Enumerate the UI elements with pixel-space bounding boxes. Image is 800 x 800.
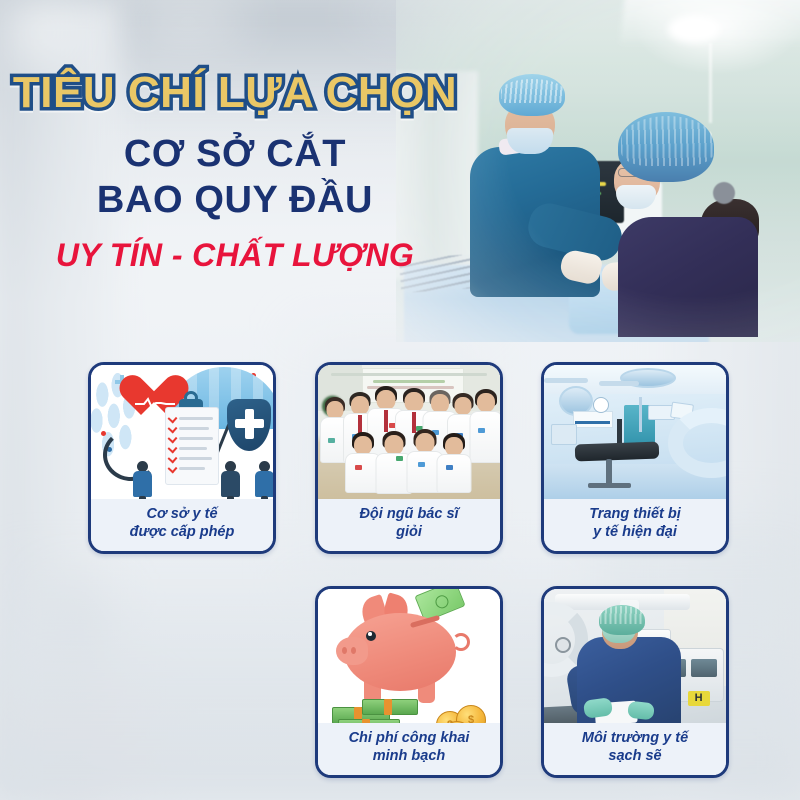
card-label-line-2: sạch sẽ	[548, 748, 722, 766]
operating-room-photo	[544, 365, 726, 499]
headset-device	[713, 182, 735, 204]
doctor-glove	[627, 700, 655, 720]
gold-coin: $	[456, 705, 486, 723]
poster-canvas: TIÊU CHÍ LỰA CHỌN CƠ SỞ CẮT BAO QUY ĐẦU …	[0, 0, 800, 800]
card-media-modern-equipment	[544, 365, 726, 499]
clipboard-line	[179, 427, 209, 430]
card-licensed-facility[interactable]: Cơ sở y tế được cấp phép	[88, 362, 276, 554]
piggy-nostril	[342, 647, 347, 654]
card-label-transparent-cost: Chi phí công khai minh bạch	[318, 723, 500, 775]
card-modern-equipment[interactable]: Trang thiết bị y tế hiện đại	[541, 362, 729, 554]
table-base	[588, 483, 632, 488]
ecg-line-icon	[135, 397, 175, 409]
clipboard-line	[179, 467, 205, 470]
equipment-cart	[551, 424, 576, 445]
dot-red	[101, 431, 106, 436]
piggy-tail	[452, 633, 470, 651]
cash-band	[362, 719, 370, 723]
clipboard-line	[179, 457, 212, 460]
headline-line-2: CƠ SỞ CẮT	[0, 131, 470, 177]
card-skilled-doctors[interactable]: Đội ngũ bác sĩ giỏi	[315, 362, 503, 554]
card-label-line-2: y tế hiện đại	[548, 524, 722, 542]
card-media-clean-environment: H	[544, 589, 726, 723]
card-media-skilled-doctors	[318, 365, 500, 499]
card-transparent-cost[interactable]: $ $ $ Chi phí công khai minh bạch	[315, 586, 503, 778]
card-label-line-1: Môi trường y tế	[548, 730, 722, 748]
nurse-top	[618, 217, 758, 337]
banner-line	[373, 380, 446, 383]
doctors-team-photo	[318, 365, 500, 499]
operating-table	[575, 441, 659, 461]
ceiling-lamp	[668, 15, 720, 43]
clean-medical-room-photo: H	[544, 589, 726, 723]
wall-panel	[573, 411, 613, 428]
card-label-line-2: được cấp phép	[95, 524, 269, 542]
clipboard-line	[179, 447, 207, 450]
card-label-line-1: Cơ sở y tế	[95, 506, 269, 524]
card-label-line-1: Chi phí công khai	[322, 730, 496, 748]
card-clean-environment[interactable]: H Môi trường y tế sạch sẽ	[541, 586, 729, 778]
lamp-arm	[599, 381, 639, 386]
medical-license-illustration	[91, 365, 273, 499]
clipboard-line	[179, 437, 213, 440]
card-media-licensed-facility	[91, 365, 273, 499]
nurse-figure	[438, 433, 471, 485]
banner-line	[331, 373, 488, 376]
ventilator-screen	[691, 659, 716, 678]
card-label-line-2: minh bạch	[322, 748, 496, 766]
card-label-modern-equipment: Trang thiết bị y tế hiện đại	[544, 499, 726, 551]
nurse-cap-texture	[621, 116, 714, 166]
panel-stripe	[575, 421, 610, 424]
card-media-transparent-cost: $ $ $	[318, 589, 500, 723]
nurse-figure	[378, 431, 411, 486]
doctor-figure	[473, 389, 500, 467]
card-label-licensed-facility: Cơ sở y tế được cấp phép	[91, 499, 273, 551]
card-label-line-1: Đội ngũ bác sĩ	[322, 506, 496, 524]
lamp-arm	[544, 378, 588, 383]
doctor-cap-texture	[600, 606, 644, 624]
cross-icon	[235, 419, 264, 428]
lamp-pole	[709, 43, 712, 123]
card-label-line-1: Trang thiết bị	[548, 506, 722, 524]
piggy-eye	[366, 631, 376, 641]
card-label-skilled-doctors: Đội ngũ bác sĩ giỏi	[318, 499, 500, 551]
hazard-label-icon: H	[688, 691, 710, 706]
headline-line-4: UY TÍN - CHẤT LƯỢNG	[0, 237, 470, 274]
headline-block: TIÊU CHÍ LỰA CHỌN CƠ SỞ CẮT BAO QUY ĐẦU …	[0, 70, 470, 274]
clipboard-line	[179, 417, 213, 420]
piggy-nostril	[351, 647, 356, 654]
card-label-line-2: giỏi	[322, 524, 496, 542]
surgeon-cap-texture	[501, 79, 564, 103]
piggy-bank-illustration: $ $ $	[318, 589, 500, 723]
headline-line-3: BAO QUY ĐẦU	[0, 177, 470, 223]
headline-line-1: TIÊU CHÍ LỰA CHỌN	[0, 70, 470, 117]
monitor-arm	[639, 397, 642, 432]
card-label-clean-environment: Môi trường y tế sạch sẽ	[544, 723, 726, 775]
cash-band	[384, 699, 392, 715]
